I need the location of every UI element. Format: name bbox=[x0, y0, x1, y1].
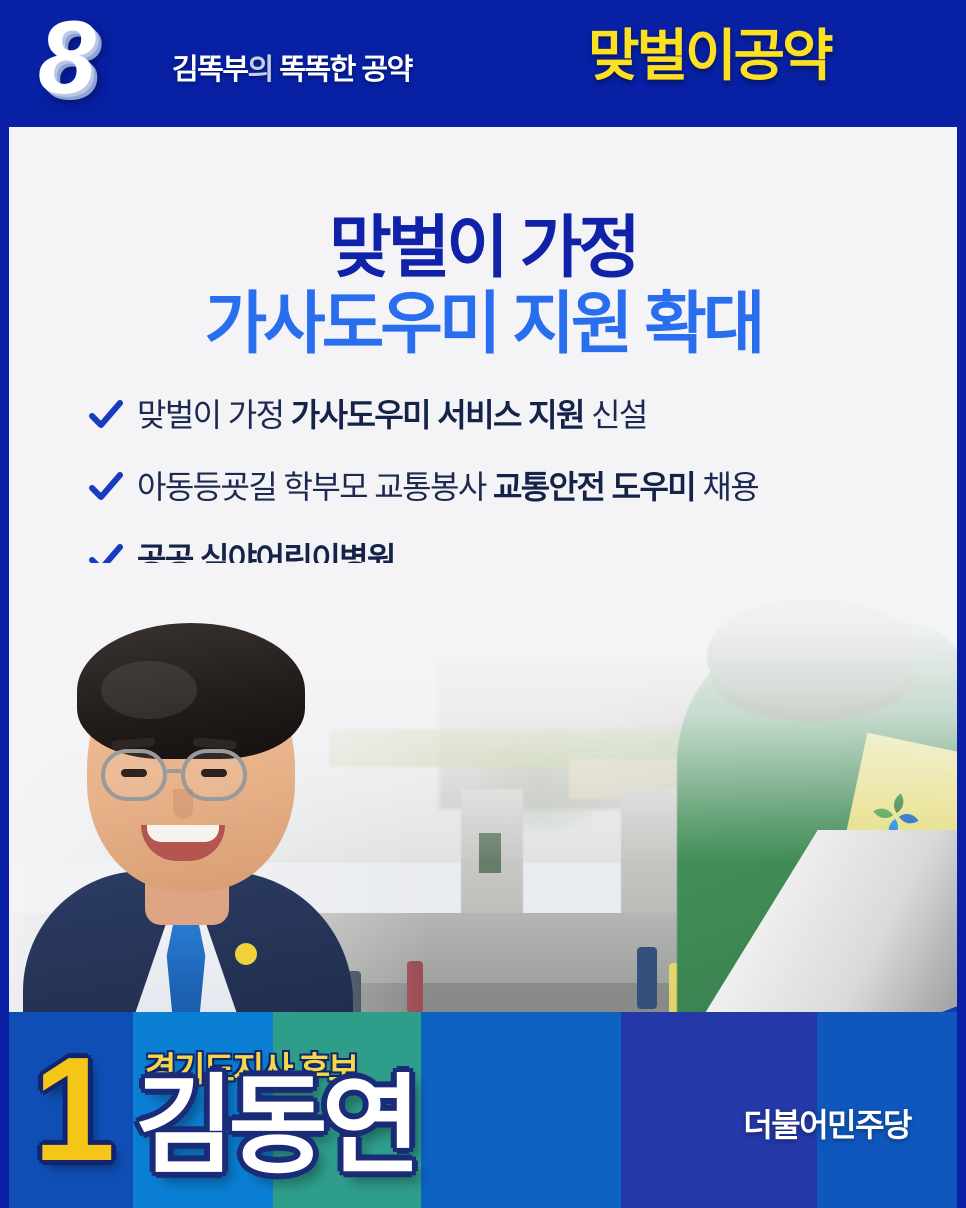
bullet-text: 맞벌이 가정 가사도우미 서비스 지원 신설 bbox=[137, 395, 939, 435]
portrait-lapel-badge bbox=[235, 943, 257, 965]
header-subtitle-particle: 의 bbox=[248, 54, 273, 86]
header-title: 맞벌이공약 bbox=[588, 26, 831, 86]
party-name: 더불어민주당 bbox=[743, 1100, 911, 1146]
bullet-bold: 교통안전 도우미 bbox=[493, 469, 695, 505]
headline-line-2: 가사도우미 지원 확대 bbox=[9, 285, 957, 363]
candidate-name: 김동연 bbox=[135, 1070, 415, 1182]
ballot-number: 1 bbox=[33, 1040, 115, 1180]
portrait-hair bbox=[77, 623, 305, 759]
headline-block: 맞벌이 가정 가사도우미 지원 확대 bbox=[9, 211, 957, 363]
check-icon bbox=[89, 398, 123, 432]
list-item: 맞벌이 가정 가사도우미 서비스 지원 신설 bbox=[79, 395, 939, 435]
bullet-post: 신설 bbox=[584, 397, 647, 433]
portrait-glasses-bridge bbox=[167, 769, 181, 773]
poster-frame: 맞벌이 가정 가사도우미 지원 확대 맞벌이 가정 가사도우미 서비스 지원 신… bbox=[0, 118, 966, 1208]
bullet-pre: 맞벌이 가정 bbox=[137, 397, 291, 433]
check-icon bbox=[89, 470, 123, 504]
portrait-nose bbox=[173, 789, 193, 819]
campaign-photo: 정지선을 지킵시다 bbox=[9, 563, 957, 1208]
header-subtitle-rest: 똑똑한 공약 bbox=[273, 54, 412, 86]
candidate-block: 1 경기도지사 후보 김동연 bbox=[27, 1026, 467, 1196]
poster-header: 8 김똑부의 똑똑한 공약 맞벌이공약 bbox=[0, 0, 966, 118]
bullet-text: 아동등굣길 학부모 교통봉사 교통안전 도우미 채용 bbox=[137, 467, 939, 507]
bullet-bold: 가사도우미 서비스 지원 bbox=[291, 397, 584, 433]
portrait-eye-right bbox=[201, 769, 227, 777]
list-item: 아동등굣길 학부모 교통봉사 교통안전 도우미 채용 bbox=[79, 467, 939, 507]
portrait-teeth bbox=[147, 825, 219, 842]
poster-sheet: 맞벌이 가정 가사도우미 지원 확대 맞벌이 가정 가사도우미 서비스 지원 신… bbox=[9, 127, 957, 1208]
promise-number: 8 bbox=[38, 6, 94, 110]
headline-line-1: 맞벌이 가정 bbox=[9, 211, 957, 285]
bullet-post: 채용 bbox=[695, 469, 758, 505]
header-subtitle-main: 김똑부 bbox=[172, 54, 248, 86]
portrait-eye-left bbox=[121, 769, 147, 777]
header-subtitle: 김똑부의 똑똑한 공약 bbox=[172, 46, 412, 88]
bullet-pre: 아동등굣길 학부모 교통봉사 bbox=[137, 469, 493, 505]
